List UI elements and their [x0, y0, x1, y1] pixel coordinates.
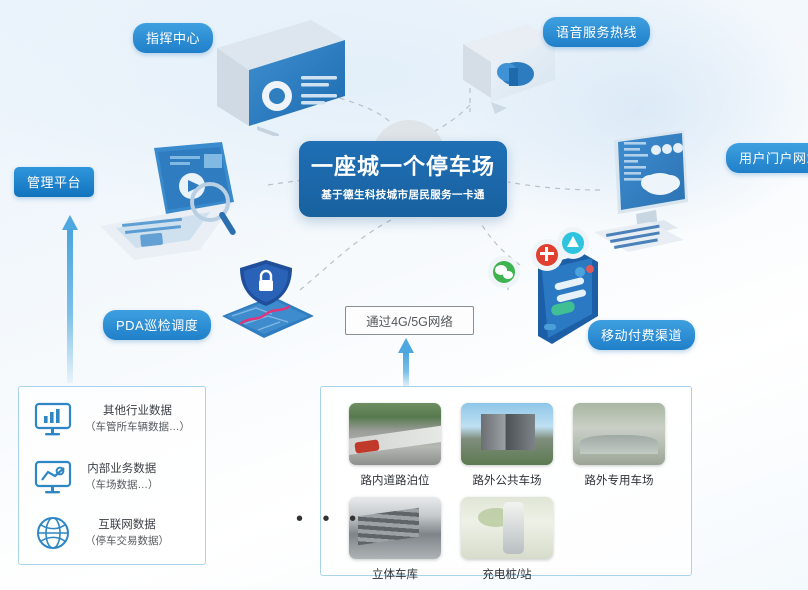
scenes-more-indicator: • • • — [296, 508, 363, 531]
label-pda-patrol[interactable]: PDA巡检调度 — [103, 310, 211, 340]
globe-network-icon — [33, 515, 73, 551]
scene-caption: 充电桩/站 — [461, 566, 553, 582]
street-parking-photo — [349, 403, 441, 465]
banner-title: 一座城一个停车场 — [311, 156, 495, 178]
label-mobile-payment[interactable]: 移动付费渠道 — [588, 320, 695, 350]
gear-monitor-icon — [205, 18, 355, 136]
unionpay-badge — [556, 226, 590, 260]
scene-caption: 路外专用车场 — [573, 472, 665, 488]
data-sources-panel: 其他行业数据 （车管所车辆数据…） 内部业务数据 （车场数据…） — [18, 386, 206, 565]
scene-caption: 路内道路泊位 — [349, 472, 441, 488]
scene-tile[interactable]: 充电桩/站 — [461, 497, 553, 582]
data-flow-arrow-left — [62, 215, 78, 383]
public-parking-building-photo — [461, 403, 553, 465]
label-management-platform[interactable]: 管理平台 — [14, 167, 94, 197]
banner-subtitle: 基于德生科技城市居民服务一卡通 — [321, 187, 485, 202]
laptop-play-search-icon — [92, 140, 257, 260]
data-source-text: 互联网数据 （停车交易数据） — [85, 517, 169, 550]
line-chart-monitor-icon — [33, 459, 73, 495]
label-user-portal[interactable]: 用户门户网站 — [726, 143, 808, 173]
data-source-row: 其他行业数据 （车管所车辆数据…） — [33, 401, 190, 437]
data-source-subtitle: （车场数据…） — [85, 478, 159, 494]
scene-tile[interactable]: 路内道路泊位 — [349, 403, 441, 488]
data-source-row: 内部业务数据 （车场数据…） — [33, 459, 159, 495]
label-voice-hotline[interactable]: 语音服务热线 — [543, 17, 650, 47]
charging-station-photo — [461, 497, 553, 559]
data-source-text: 内部业务数据 （车场数据…） — [85, 461, 159, 494]
dedicated-parking-lot-photo — [573, 403, 665, 465]
data-source-subtitle: （停车交易数据） — [85, 534, 169, 550]
network-label-box: 通过4G/5G网络 — [345, 306, 474, 335]
main-banner: 一座城一个停车场 基于德生科技城市居民服务一卡通 — [299, 141, 507, 217]
label-command-center[interactable]: 指挥中心 — [133, 23, 213, 53]
data-source-title: 其他行业数据 — [85, 403, 190, 420]
shield-lock-map-icon — [210, 258, 320, 344]
data-source-row: 互联网数据 （停车交易数据） — [33, 515, 169, 551]
data-source-title: 互联网数据 — [85, 517, 169, 534]
wechat-pay-badge — [487, 255, 521, 289]
data-source-subtitle: （车管所车辆数据…） — [85, 420, 190, 436]
bar-chart-monitor-icon — [33, 401, 73, 437]
data-flow-arrow-network — [398, 338, 414, 388]
data-source-title: 内部业务数据 — [85, 461, 159, 478]
scene-caption: 立体车库 — [349, 566, 441, 582]
scene-tile[interactable]: 路外专用车场 — [573, 403, 665, 488]
diagram-canvas: 一座城一个停车场 基于德生科技城市居民服务一卡通 — [0, 0, 808, 590]
data-source-text: 其他行业数据 （车管所车辆数据…） — [85, 403, 190, 436]
scene-tile[interactable]: 路外公共车场 — [461, 403, 553, 488]
scene-caption: 路外公共车场 — [461, 472, 553, 488]
scenes-panel: 路内道路泊位 路外公共车场 路外专用车场 立体车库 充电桩/站 — [320, 386, 692, 576]
